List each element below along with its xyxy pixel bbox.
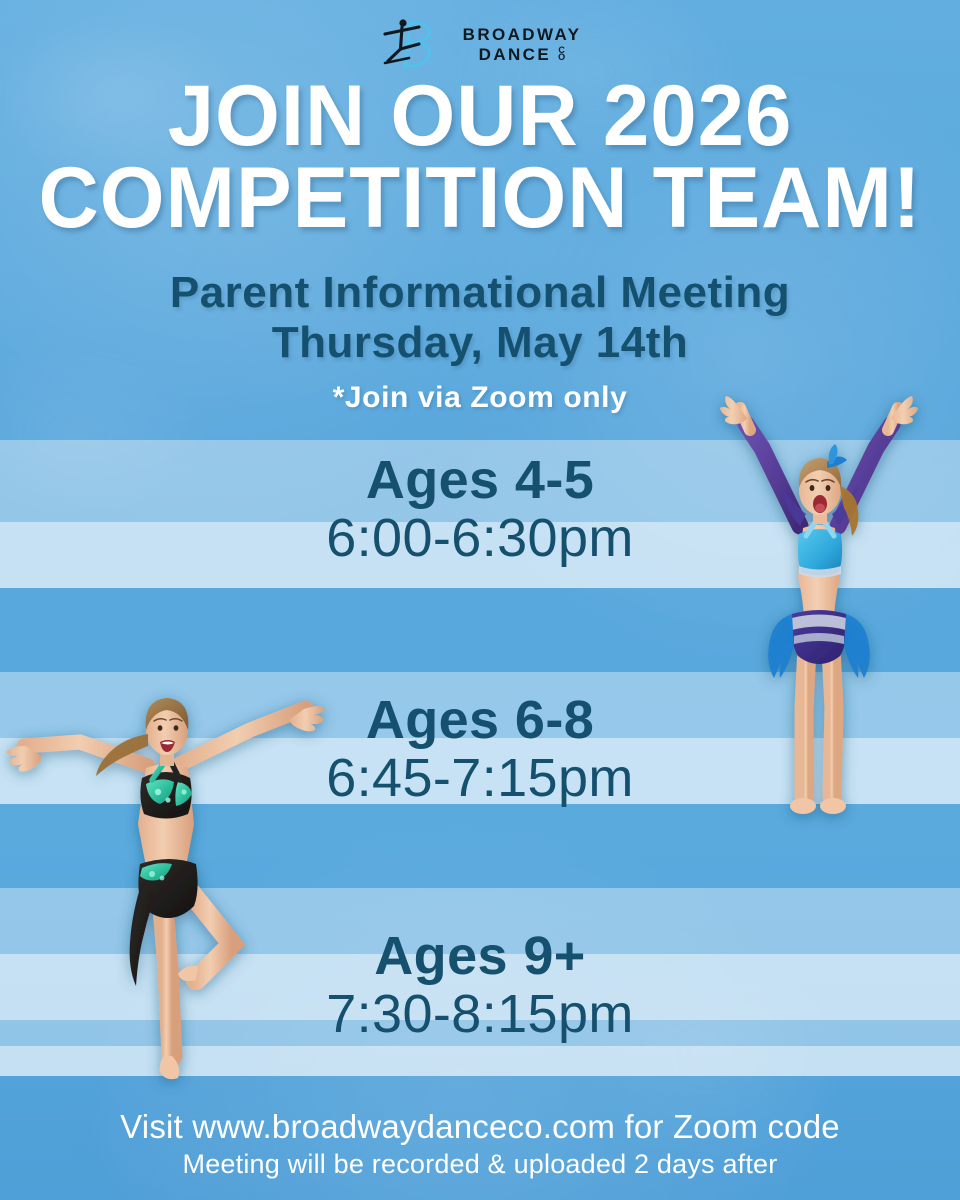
session-block: Ages 4-5 6:00-6:30pm	[0, 452, 960, 569]
brand-logo: BROADWAY DANCE C O	[0, 12, 960, 74]
zoom-only-note: *Join via Zoom only	[0, 381, 960, 415]
session-time-label: 7:30-8:15pm	[0, 984, 960, 1044]
brand-wordmark: BROADWAY DANCE C O	[463, 26, 582, 63]
brand-name-line2-row: DANCE C O	[479, 46, 566, 63]
subheading-line-1: Parent Informational Meeting	[0, 268, 960, 318]
session-age-label: Ages 4-5	[0, 452, 960, 508]
subheading: Parent Informational Meeting Thursday, M…	[0, 268, 960, 367]
subheading-line-2: Thursday, May 14th	[0, 318, 960, 368]
brand-suffix-o: O	[558, 54, 566, 62]
footer-website-line: Visit www.broadwaydanceco.com for Zoom c…	[0, 1107, 960, 1147]
headline: JOIN OUR 2026 COMPETITION TEAM!	[14, 76, 945, 239]
session-age-label: Ages 9+	[0, 928, 960, 984]
session-block: Ages 9+ 7:30-8:15pm	[0, 928, 960, 1045]
brand-name-line2: DANCE	[479, 46, 551, 63]
session-block: Ages 6-8 6:45-7:15pm	[0, 692, 960, 809]
brand-name-line1: BROADWAY	[463, 26, 582, 43]
session-time-label: 6:00-6:30pm	[0, 508, 960, 568]
headline-line-1: JOIN OUR 2026	[14, 76, 945, 158]
session-age-label: Ages 6-8	[0, 692, 960, 748]
footer: Visit www.broadwaydanceco.com for Zoom c…	[0, 1107, 960, 1182]
footer-recording-line: Meeting will be recorded & uploaded 2 da…	[0, 1147, 960, 1182]
session-time-label: 6:45-7:15pm	[0, 748, 960, 808]
headline-line-2: COMPETITION TEAM!	[14, 158, 945, 240]
flyer-poster: BROADWAY DANCE C O JOIN OUR 2026 COMPETI…	[0, 0, 960, 1200]
dancer-figure-icon	[379, 14, 457, 72]
brand-suffix-co: C O	[558, 47, 566, 62]
